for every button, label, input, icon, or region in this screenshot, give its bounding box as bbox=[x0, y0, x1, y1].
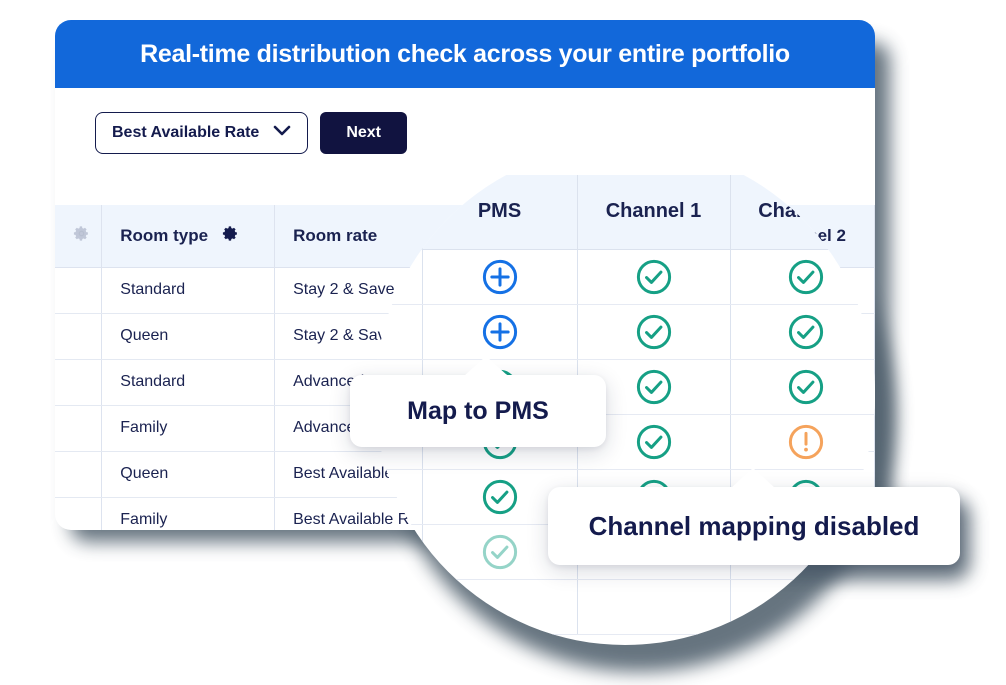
magnified-column-header-channel-2[interactable]: Channel 2 bbox=[730, 175, 875, 249]
cell-room-rate bbox=[375, 579, 422, 634]
rate-plan-select-value: Best Available Rate bbox=[112, 124, 259, 142]
page-title: Real-time distribution check across your… bbox=[140, 40, 790, 69]
check-icon[interactable] bbox=[731, 368, 876, 406]
cell-room-type: Standard bbox=[102, 359, 275, 405]
cell-room-rate: Stay 2 & Save - 1 bbox=[375, 249, 422, 304]
cell-room-rate: Best Available bbox=[375, 469, 422, 524]
row-handle[interactable] bbox=[55, 497, 102, 530]
check-icon[interactable] bbox=[578, 313, 730, 351]
add-icon[interactable] bbox=[423, 258, 577, 296]
cell-pms[interactable] bbox=[422, 579, 577, 634]
magnified-column-header-pms[interactable]: PMS bbox=[422, 175, 577, 249]
magnified-header-row: PMS Channel 1 Channel 2 bbox=[375, 175, 875, 249]
card-header: Real-time distribution check across your… bbox=[55, 20, 875, 88]
tooltip-map-to-pms: Map to PMS bbox=[350, 375, 606, 447]
check-icon[interactable] bbox=[731, 313, 876, 351]
cell-room-type: Family bbox=[102, 405, 275, 451]
magnified-column-header-room-rate bbox=[375, 175, 422, 249]
magnified-column-header-channel-1[interactable]: Channel 1 bbox=[577, 175, 730, 249]
cell-channel-2[interactable] bbox=[730, 249, 875, 304]
tooltip-arrow-icon bbox=[731, 468, 775, 488]
cell-room-rate: Stay 2 & Save bbox=[375, 304, 422, 359]
cell-channel-1[interactable] bbox=[577, 249, 730, 304]
cell-pms[interactable] bbox=[422, 304, 577, 359]
cell-room-rate: Best Available R bbox=[375, 524, 422, 579]
row-handle[interactable] bbox=[55, 451, 102, 497]
row-handle[interactable] bbox=[55, 267, 102, 313]
column-header-room-type-label: Room type bbox=[120, 226, 208, 246]
magnified-table-row[interactable] bbox=[375, 579, 875, 634]
check-icon[interactable] bbox=[731, 258, 876, 296]
row-handle[interactable] bbox=[55, 359, 102, 405]
cell-channel-2[interactable] bbox=[730, 414, 875, 469]
cell-channel-1[interactable] bbox=[577, 304, 730, 359]
magnified-table-row[interactable]: Stay 2 & Save - 1 bbox=[375, 249, 875, 304]
cell-channel-2[interactable] bbox=[730, 579, 875, 634]
cell-room-type: Standard bbox=[102, 267, 275, 313]
magnified-table-row[interactable]: Stay 2 & Save bbox=[375, 304, 875, 359]
gear-icon[interactable] bbox=[73, 227, 90, 246]
tooltip-map-to-pms-label: Map to PMS bbox=[407, 397, 549, 426]
tooltip-channel-mapping-label: Channel mapping disabled bbox=[589, 511, 920, 542]
column-header-room-type[interactable]: Room type bbox=[102, 205, 275, 267]
column-header-settings[interactable] bbox=[55, 205, 102, 267]
check-icon[interactable] bbox=[578, 258, 730, 296]
tooltip-channel-mapping: Channel mapping disabled bbox=[548, 487, 960, 565]
cell-pms[interactable] bbox=[422, 249, 577, 304]
row-handle[interactable] bbox=[55, 405, 102, 451]
screenshot-root: Real-time distribution check across your… bbox=[0, 0, 1006, 685]
cell-room-type: Queen bbox=[102, 313, 275, 359]
rate-plan-select[interactable]: Best Available Rate bbox=[95, 112, 308, 154]
cell-room-type: Family bbox=[102, 497, 275, 530]
gear-icon[interactable] bbox=[222, 225, 239, 247]
cell-room-type: Queen bbox=[102, 451, 275, 497]
row-handle[interactable] bbox=[55, 313, 102, 359]
cell-channel-2[interactable] bbox=[730, 304, 875, 359]
warning-icon[interactable] bbox=[731, 423, 876, 461]
add-icon[interactable] bbox=[423, 313, 577, 351]
tooltip-arrow-icon bbox=[464, 356, 508, 376]
cell-channel-2[interactable] bbox=[730, 359, 875, 414]
cell-channel-1[interactable] bbox=[577, 579, 730, 634]
chevron-down-icon bbox=[273, 124, 291, 142]
